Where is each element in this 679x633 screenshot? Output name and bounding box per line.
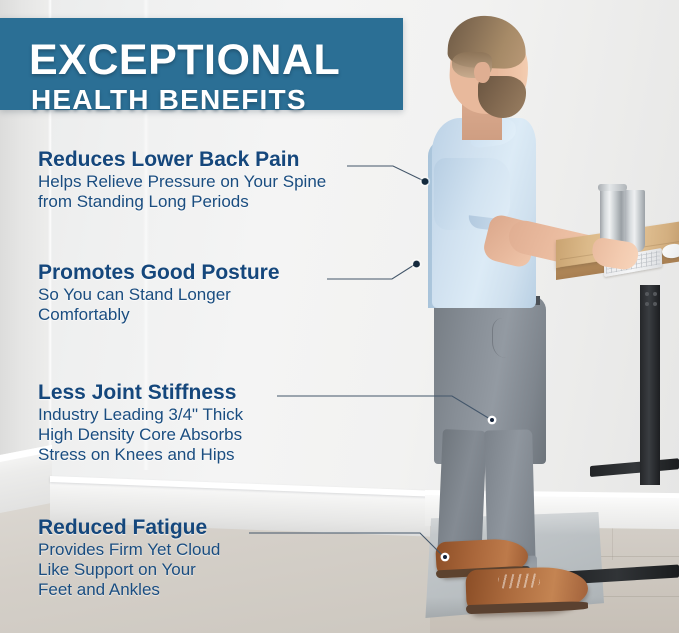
dress-shoe-laces [498, 573, 540, 588]
desk-bolt [653, 302, 657, 306]
desk-bolt [645, 302, 649, 306]
benefit-body-1: Helps Relieve Pressure on Your Spine fro… [38, 172, 326, 213]
benefit-body-line: Like Support on Your [38, 560, 220, 580]
benefit-body-line: So You can Stand Longer [38, 285, 280, 305]
benefit-block-4: Reduced Fatigue Provides Firm Yet Cloud … [38, 517, 220, 601]
banner-subtitle: HEALTH BENEFITS [31, 86, 307, 114]
benefit-body-3: Industry Leading 3/4" Thick High Density… [38, 405, 243, 466]
benefit-block-3: Less Joint Stiffness Industry Leading 3/… [38, 382, 243, 466]
benefit-block-2: Promotes Good Posture So You can Stand L… [38, 262, 280, 325]
benefit-body-line: Comfortably [38, 305, 280, 325]
benefit-block-1: Reduces Lower Back Pain Helps Relieve Pr… [38, 149, 326, 212]
benefit-body-line: Industry Leading 3/4" Thick [38, 405, 243, 425]
desk-leg-column [640, 285, 660, 485]
header-banner: EXCEPTIONAL HEALTH BENEFITS [0, 18, 403, 110]
benefit-title-4: Reduced Fatigue [38, 517, 220, 540]
benefit-title-3: Less Joint Stiffness [38, 382, 243, 405]
benefit-body-line: Stress on Knees and Hips [38, 445, 243, 465]
benefit-body-line: High Density Core Absorbs [38, 425, 243, 445]
person-ear [474, 62, 490, 83]
benefit-body-line: from Standing Long Periods [38, 192, 326, 212]
benefit-title-2: Promotes Good Posture [38, 262, 280, 285]
desk-bolt [653, 292, 657, 296]
banner-title: EXCEPTIONAL [29, 39, 340, 82]
person-pants-pocket [492, 318, 527, 358]
benefit-title-1: Reduces Lower Back Pain [38, 149, 326, 172]
benefit-body-line: Helps Relieve Pressure on Your Spine [38, 172, 326, 192]
product-infographic: EXCEPTIONAL HEALTH BENEFITS Reduces Lowe… [0, 0, 679, 633]
tumbler-lid [598, 184, 627, 191]
benefit-body-line: Provides Firm Yet Cloud [38, 540, 220, 560]
benefit-body-4: Provides Firm Yet Cloud Like Support on … [38, 540, 220, 601]
benefit-body-line: Feet and Ankles [38, 580, 220, 600]
desk-bolt [645, 292, 649, 296]
benefit-body-2: So You can Stand Longer Comfortably [38, 285, 280, 326]
